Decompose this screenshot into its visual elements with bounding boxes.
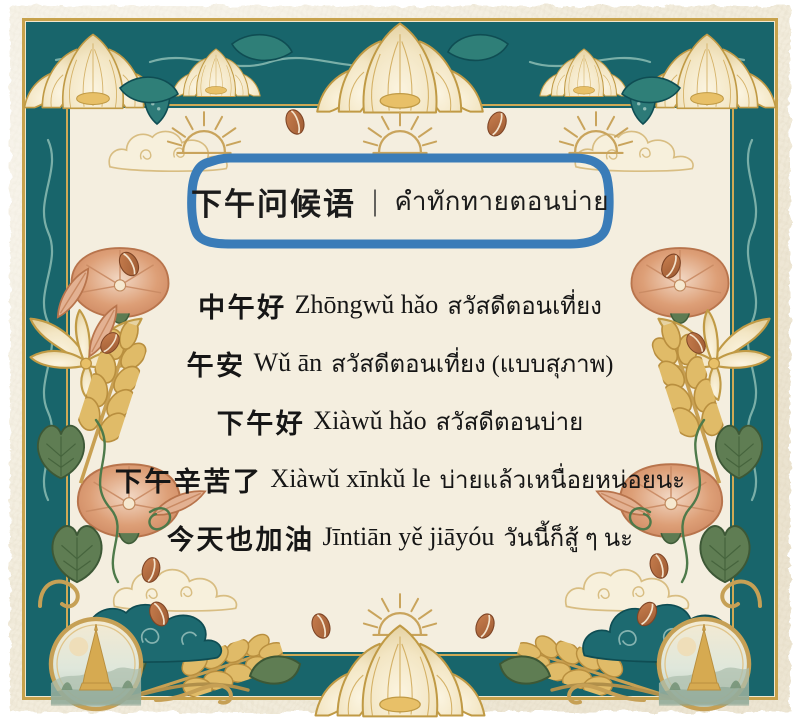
lotus-flower-icon [540, 49, 628, 97]
cloud-swirl-icon [61, 605, 221, 662]
phrase-pinyin: Xiàwǔ hǎo [305, 406, 426, 436]
phrase-row: 下午辛苦了 Xiàwǔ xīnkǔ le บ่ายแล้วเหนื่อยหน่อ… [115, 450, 685, 508]
leaf-icon [120, 35, 680, 103]
sunburst-icon [364, 594, 436, 635]
phrase-thai: สวัสดีตอนเที่ยง (แบบสุภาพ) [322, 344, 613, 383]
title-chinese: 下午问候语 [191, 179, 356, 224]
sunburst-icon [168, 112, 240, 153]
lotus-flower-icon [638, 34, 775, 108]
phrase-chinese: 午安 [187, 344, 246, 383]
phrase-thai: สวัสดีตอนเที่ยง [438, 286, 602, 325]
teal-band-right [730, 22, 774, 696]
cloud-swirl-icon [114, 570, 237, 611]
title-separator: | [370, 184, 381, 218]
phrase-thai: วันนี้ก็สู้ ๆ นะ [494, 518, 633, 557]
teal-band-top [26, 22, 774, 108]
phrase-pinyin: Zhōngwǔ hǎo [287, 290, 439, 320]
title-plaque: 下午问候语 | คำทักทายตอนบ่าย [186, 152, 614, 250]
phrase-chinese: 下午好 [217, 402, 306, 441]
lotus-flower-icon [24, 34, 161, 108]
vine-scroll-icon [120, 684, 680, 700]
lotus-flower-icon [317, 23, 483, 112]
greeting-card: 下午问候语 | คำทักทายตอนบ่าย 中午好 Zhōngwǔ hǎo … [0, 0, 800, 718]
ivy-leaf-icon [103, 637, 146, 686]
lotus-flower-icon [316, 626, 485, 717]
wheat-stalk-icon [133, 621, 293, 718]
corner-scroll-icon [40, 582, 760, 703]
phrase-pinyin: Xiàwǔ xīnkǔ le [262, 464, 430, 494]
leaf-icon [250, 656, 550, 683]
phrase-list: 中午好 Zhōngwǔ hǎo สวัสดีตอนเที่ยง 午安 Wǔ ān… [70, 276, 730, 566]
title-thai: คำทักทายตอนบ่าย [395, 181, 609, 222]
lotus-bud-icon [631, 79, 656, 124]
sunburst-icon [364, 112, 436, 153]
phrase-pinyin: Wǔ ān [246, 348, 323, 378]
phrase-row: 下午好 Xiàwǔ hǎo สวัสดีตอนบ่าย [217, 392, 583, 450]
cloud-swirl-icon [566, 570, 689, 611]
pagoda-medallion-icon [659, 619, 749, 709]
teal-band-bottom [26, 652, 774, 696]
phrase-chinese: 中午好 [198, 286, 287, 325]
lotus-bud-icon [145, 79, 170, 124]
phrase-row: 今天也加油 Jīntiān yě jiāyóu วันนี้ก็สู้ ๆ นะ [167, 508, 633, 566]
phrase-thai: บ่ายแล้วเหนื่อยหน่อยนะ [431, 460, 685, 499]
ivy-leaf-icon [655, 637, 698, 686]
sunburst-icon [560, 112, 632, 153]
lotus-flower-icon [172, 49, 260, 97]
phrase-row: 午安 Wǔ ān สวัสดีตอนเที่ยง (แบบสุภาพ) [187, 334, 614, 392]
teal-band-left [26, 22, 70, 696]
phrase-thai: สวัสดีตอนบ่าย [427, 402, 584, 441]
wheat-stalk-icon [507, 621, 667, 718]
cloud-swirl-icon [583, 605, 743, 662]
title-text: 下午问候语 | คำทักทายตอนบ่าย [186, 152, 614, 250]
pagoda-medallion-icon [51, 619, 141, 709]
phrase-chinese: 下午辛苦了 [115, 460, 263, 499]
phrase-pinyin: Jīntiān yě jiāyóu [314, 522, 494, 552]
phrase-row: 中午好 Zhōngwǔ hǎo สวัสดีตอนเที่ยง [198, 276, 602, 334]
phrase-chinese: 今天也加油 [167, 518, 315, 557]
